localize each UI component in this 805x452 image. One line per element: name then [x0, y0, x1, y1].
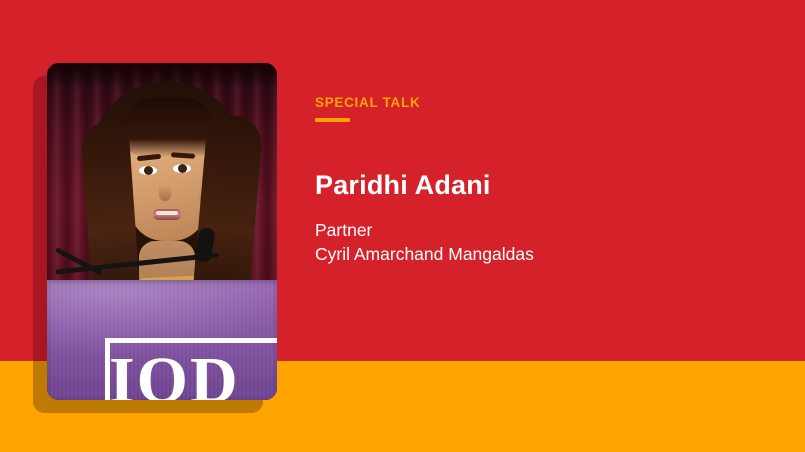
session-type-label: SPECIAL TALK: [315, 63, 785, 110]
podium-logo-text: IOD: [109, 348, 240, 400]
eye-left: [139, 166, 157, 175]
speaker-name: Paridhi Adani: [315, 170, 785, 201]
speaker-organisation: Cyril Amarchand Mangaldas: [315, 242, 785, 267]
mouth: [153, 209, 181, 220]
session-type-underline: [315, 118, 350, 122]
eye-right: [173, 164, 191, 173]
speaker-role: Partner: [315, 218, 785, 243]
speaker-details: SPECIAL TALK Paridhi Adani Partner Cyril…: [315, 63, 785, 267]
slide-canvas: IOD SPECIAL TALK Paridhi Adani Partner C…: [0, 0, 805, 452]
nose: [159, 175, 171, 201]
speaker-photo: IOD: [47, 63, 277, 400]
podium: IOD: [47, 280, 277, 400]
hair-fringe: [121, 97, 217, 157]
